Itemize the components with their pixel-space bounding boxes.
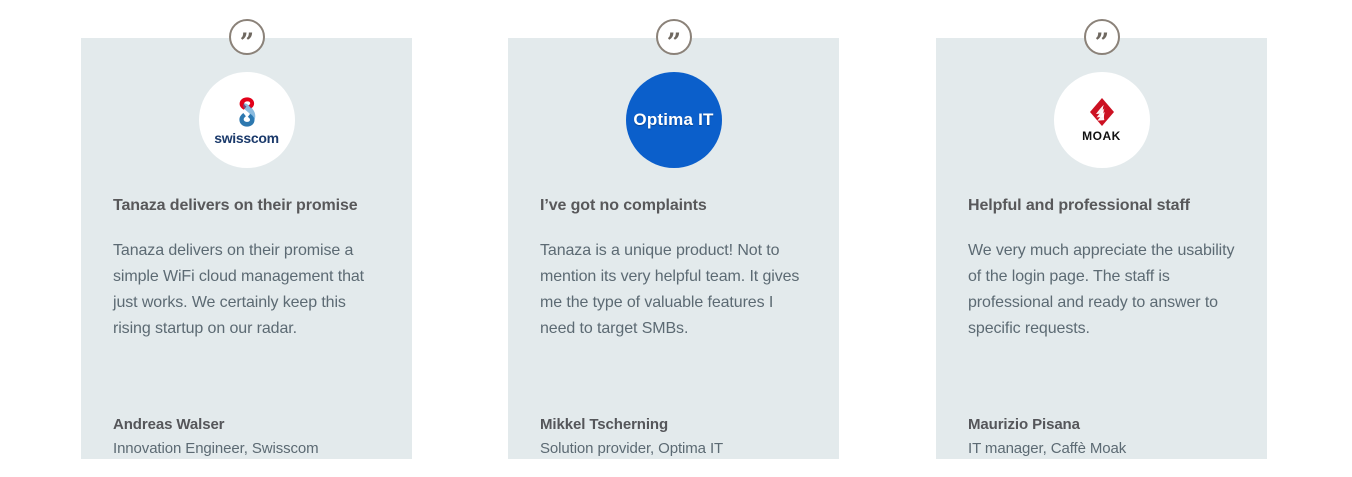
- testimonial-body: I’ve got no complaints Tanaza is a uniqu…: [540, 196, 811, 342]
- testimonials-section: ” swisscom Tanaza delivers on their prom…: [0, 0, 1352, 477]
- quote-badge: ”: [229, 19, 265, 55]
- moak-logo: MOAK: [1054, 72, 1150, 168]
- swisscom-logo: swisscom: [199, 72, 295, 168]
- testimonial-quote: Tanaza is a unique product! Not to menti…: [540, 238, 811, 342]
- testimonial-author: Andreas Walser: [113, 414, 384, 437]
- testimonial-attribution: Maurizio Pisana IT manager, Caffè Moak: [968, 414, 1239, 460]
- testimonial-card: ” Optima IT I’ve got no complaints Tanaz…: [508, 38, 839, 459]
- testimonial-role: Solution provider, Optima IT: [540, 437, 811, 460]
- testimonial-card: ” MOAK Helpful and professional staff We…: [936, 38, 1267, 459]
- testimonial-quote: We very much appreciate the usability of…: [968, 238, 1239, 342]
- testimonial-headline: I’ve got no complaints: [540, 196, 811, 216]
- testimonial-headline: Tanaza delivers on their promise: [113, 196, 384, 216]
- quote-mark-icon: ”: [240, 30, 253, 55]
- testimonial-body: Helpful and professional staff We very m…: [968, 196, 1239, 342]
- moak-flame-icon: [1087, 97, 1117, 127]
- swisscom-wordmark: swisscom: [214, 130, 279, 146]
- testimonial-quote: Tanaza delivers on their promise a simpl…: [113, 238, 384, 342]
- quote-badge: ”: [1084, 19, 1120, 55]
- testimonial-body: Tanaza delivers on their promise Tanaza …: [113, 196, 384, 342]
- testimonial-author: Mikkel Tscherning: [540, 414, 811, 437]
- quote-mark-icon: ”: [667, 30, 680, 55]
- quote-mark-icon: ”: [1095, 30, 1108, 55]
- testimonial-attribution: Mikkel Tscherning Solution provider, Opt…: [540, 414, 811, 460]
- testimonial-card: ” swisscom Tanaza delivers on their prom…: [81, 38, 412, 459]
- quote-badge: ”: [656, 19, 692, 55]
- testimonial-role: Innovation Engineer, Swisscom: [113, 437, 384, 460]
- optima-it-logo: Optima IT: [626, 72, 722, 168]
- swisscom-mark-icon: [230, 95, 264, 129]
- testimonial-role: IT manager, Caffè Moak: [968, 437, 1239, 460]
- testimonial-author: Maurizio Pisana: [968, 414, 1239, 437]
- avatar: swisscom: [199, 72, 295, 168]
- avatar: Optima IT: [626, 72, 722, 168]
- moak-wordmark: MOAK: [1082, 129, 1121, 143]
- optima-it-wordmark: Optima IT: [633, 110, 713, 130]
- testimonial-attribution: Andreas Walser Innovation Engineer, Swis…: [113, 414, 384, 460]
- avatar: MOAK: [1054, 72, 1150, 168]
- testimonial-headline: Helpful and professional staff: [968, 196, 1239, 216]
